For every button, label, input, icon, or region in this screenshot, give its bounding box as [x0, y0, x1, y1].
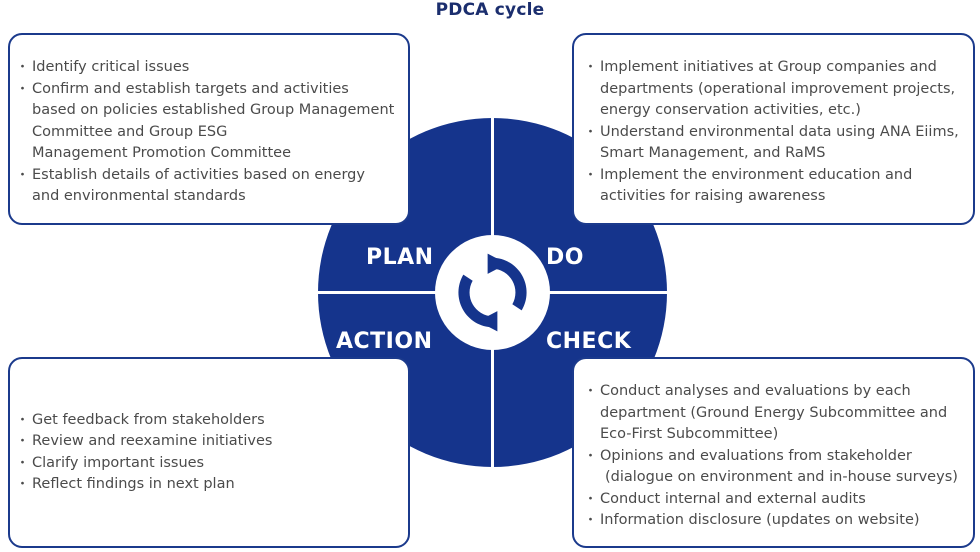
do-bullet-list: Implement initiatives at Group companies… [586, 57, 967, 208]
list-item: Establish details of activities based on… [18, 165, 402, 208]
list-item: Implement the environment education and … [586, 165, 967, 208]
check-bullet-list: Conduct analyses and evaluations by each… [586, 381, 967, 532]
quadrant-label-check[interactable]: CHECK [546, 330, 631, 354]
plan-bullet-list: Identify critical issues Confirm and est… [18, 57, 402, 208]
list-item: Opinions and evaluations from stakeholde… [586, 446, 967, 489]
list-item: Clarify important issues [18, 453, 402, 475]
info-box-action[interactable]: Get feedback from stakeholders Review an… [8, 357, 410, 548]
list-item: Identify critical issues [18, 57, 402, 79]
list-item: Review and reexamine initiatives [18, 431, 402, 453]
quadrant-label-plan[interactable]: PLAN [366, 246, 434, 270]
page-title: PDCA cycle [0, 0, 980, 20]
list-item: Get feedback from stakeholders [18, 410, 402, 432]
list-item: Reflect findings in next plan [18, 474, 402, 496]
info-box-do[interactable]: Implement initiatives at Group companies… [572, 33, 975, 225]
info-box-check[interactable]: Conduct analyses and evaluations by each… [572, 357, 975, 548]
list-item: Understand environmental data using ANA … [586, 122, 967, 165]
quadrant-label-do[interactable]: DO [546, 246, 584, 270]
refresh-cycle-icon [452, 252, 533, 333]
list-item: Conduct internal and external audits [586, 489, 967, 511]
info-box-plan[interactable]: Identify critical issues Confirm and est… [8, 33, 410, 225]
list-item: Information disclosure (updates on websi… [586, 510, 967, 532]
action-bullet-list: Get feedback from stakeholders Review an… [18, 410, 402, 496]
list-item: Confirm and establish targets and activi… [18, 79, 402, 165]
quadrant-label-action[interactable]: ACTION [336, 330, 432, 354]
pdca-diagram: PDCA cycle PLAN DO ACTION CHECK Identify… [0, 0, 980, 552]
list-item: Conduct analyses and evaluations by each… [586, 381, 967, 446]
list-item: Implement initiatives at Group companies… [586, 57, 967, 122]
